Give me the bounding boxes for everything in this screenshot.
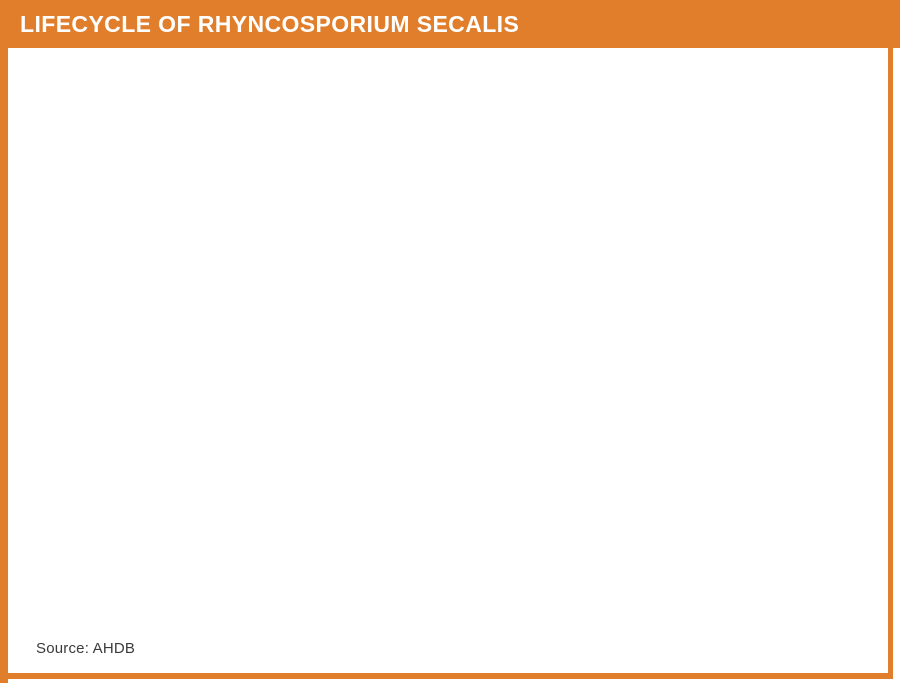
figure-canvas: Source: AHDB [8, 48, 888, 673]
frame-border-right [888, 48, 893, 679]
figure-title: LIFECYCLE OF RHYNCOSPORIUM SECALIS [20, 13, 519, 36]
figure-header-bar: LIFECYCLE OF RHYNCOSPORIUM SECALIS [0, 0, 900, 48]
frame-border-left [0, 48, 8, 683]
source-caption: Source: AHDB [36, 640, 135, 658]
figure-container: LIFECYCLE OF RHYNCOSPORIUM SECALIS Sourc… [0, 0, 900, 683]
diagram-area [8, 48, 888, 608]
frame-border-bottom [0, 673, 893, 679]
